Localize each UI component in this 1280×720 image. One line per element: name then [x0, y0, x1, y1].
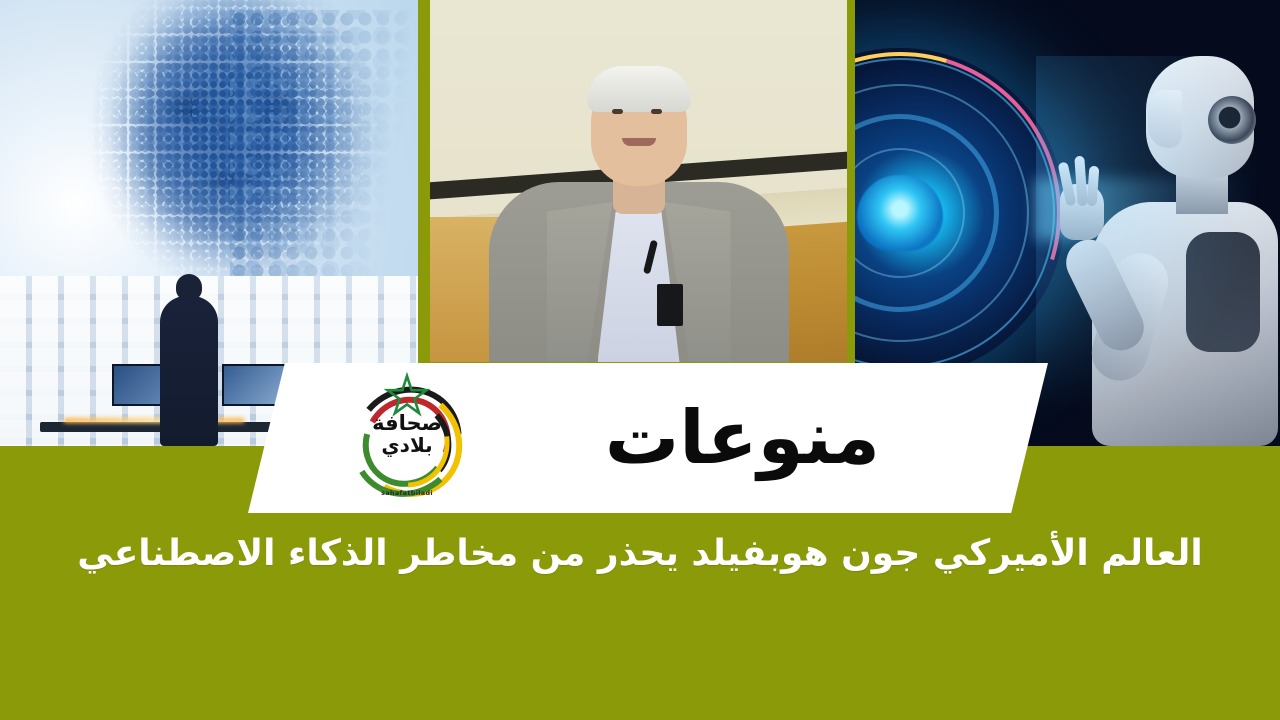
brand-logo[interactable]: صحافة بلادي sahafatbiladi [344, 372, 470, 504]
white-hair [587, 66, 691, 112]
logo-word-line2: بلادي [344, 435, 470, 456]
eye-right [651, 109, 662, 114]
eye-left [612, 109, 623, 114]
pocket-device [657, 284, 683, 326]
digital-brain-icon [857, 175, 943, 251]
holographic-disc [855, 48, 1065, 378]
logo-latin-text: sahafatbiladi [344, 489, 470, 497]
category-banner: منوعات صحافة [248, 363, 1048, 513]
logo-wordmark: صحافة بلادي [344, 412, 470, 456]
businessman-silhouette [160, 296, 218, 446]
humanoid-robot [1036, 56, 1280, 446]
mouth [622, 138, 656, 146]
category-title: منوعات [605, 401, 880, 475]
speaker-figure [489, 107, 789, 362]
photo-john-hopfield [430, 0, 847, 362]
news-card: منوعات صحافة [0, 0, 1280, 720]
headline-text: العالم الأميركي جون هوبفيلد يحذر من مخاط… [50, 528, 1230, 579]
logo-word-line1: صحافة [344, 412, 470, 434]
robot-rim-light [1036, 56, 1280, 446]
